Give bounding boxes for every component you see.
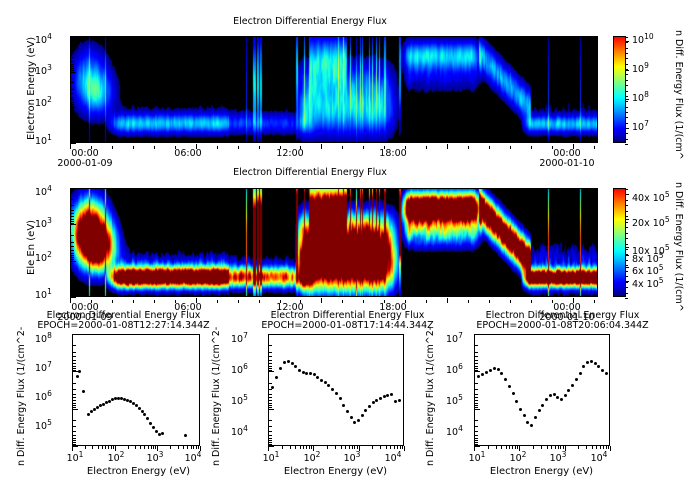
data-point — [383, 395, 386, 398]
spectrum-0-xtick-1: 102 — [101, 450, 131, 464]
spectrum-2-ytick-0: 107 — [446, 331, 463, 345]
data-point — [353, 421, 356, 424]
data-point — [560, 398, 563, 401]
data-point — [146, 417, 149, 420]
data-point — [545, 398, 548, 401]
data-point — [575, 378, 578, 381]
data-point — [386, 394, 389, 397]
data-point — [493, 367, 496, 370]
data-point — [283, 361, 286, 364]
spectrum-1-ylabel: n Diff. Energy Flux (1/(cm^2- — [211, 327, 222, 466]
spectrum-0-ytick-3: 105 — [35, 418, 52, 432]
data-point — [161, 432, 164, 435]
data-point — [497, 368, 500, 371]
top-colorbar-label: n Diff. Energy Flux (1/(cm^ — [673, 30, 684, 160]
mid-panel-title: Electron Differential Energy Flux — [0, 167, 620, 178]
mid-ytick-4: 104 — [35, 184, 52, 198]
data-point — [87, 413, 90, 416]
data-point — [368, 405, 371, 408]
mid-ytick-1: 101 — [35, 287, 52, 301]
spectrum-0-ytick-0: 108 — [35, 331, 52, 345]
top-spectrogram[interactable] — [70, 36, 598, 143]
data-point — [582, 365, 585, 368]
spectrum-0-ytick-1: 107 — [35, 360, 52, 374]
spectrum-2-xtick-2: 103 — [543, 450, 573, 464]
top-ytick-4: 104 — [35, 32, 52, 46]
data-point — [567, 389, 570, 392]
mid-ytick-2: 102 — [35, 250, 52, 264]
spectrogram-canvas — [71, 189, 597, 296]
data-point — [372, 401, 375, 404]
data-point — [279, 367, 282, 370]
data-point — [361, 414, 364, 417]
data-point — [375, 399, 378, 402]
data-point — [331, 388, 334, 391]
data-point — [327, 384, 330, 387]
spectrum-1-yticks — [268, 334, 276, 446]
data-point — [379, 397, 382, 400]
data-point — [523, 414, 526, 417]
data-point — [335, 392, 338, 395]
data-point — [390, 393, 393, 396]
mid-cbar-tick-0: 40x 105 — [632, 190, 670, 204]
spectrum-2-xtick-0: 101 — [462, 450, 492, 464]
data-point — [512, 392, 515, 395]
data-point — [519, 408, 522, 411]
spectrum-1-plot[interactable] — [268, 334, 404, 446]
data-point — [530, 424, 533, 427]
spectrum-2-ytick-2: 105 — [446, 393, 463, 407]
data-point — [287, 360, 290, 363]
spectrum-2-plot[interactable] — [474, 334, 610, 446]
spectrum-1-xtick-0: 101 — [256, 450, 286, 464]
spectrum-0-epoch: EPOCH=2000-01-08T12:27:14.344Z — [16, 320, 231, 331]
top-xtick-3: 18:00 — [363, 148, 423, 159]
data-point — [597, 365, 600, 368]
data-point — [553, 393, 556, 396]
data-point — [305, 372, 308, 375]
data-point — [485, 371, 488, 374]
data-point — [500, 372, 503, 375]
mid-spectrogram[interactable] — [70, 188, 598, 297]
data-point — [309, 372, 312, 375]
mid-yaxis-ticks — [70, 188, 78, 297]
top-yaxis-ticks — [70, 36, 78, 143]
spectrum-0-xlabel: Electron Energy (eV) — [66, 466, 211, 477]
data-point — [564, 394, 567, 397]
spectrum-0-xtick-2: 103 — [140, 450, 170, 464]
top-ytick-3: 103 — [35, 63, 52, 77]
data-point — [346, 410, 349, 413]
spectrum-1-ytick-1: 106 — [231, 362, 248, 376]
spectrum-0-ytick-2: 106 — [35, 389, 52, 403]
data-point — [515, 400, 518, 403]
data-point — [342, 404, 345, 407]
spectrum-0-plot[interactable] — [72, 334, 200, 446]
top-ytick-1: 101 — [35, 133, 52, 147]
data-point — [594, 362, 597, 365]
data-point — [508, 385, 511, 388]
data-point — [291, 362, 294, 365]
data-point — [320, 379, 323, 382]
top-cbar-tick-1: 109 — [632, 61, 649, 75]
spectrum-0-ylabel: n Diff. Energy Flux (1/(cm^2- — [16, 327, 27, 466]
data-point — [82, 390, 85, 393]
spectrum-0-xtick-3: 104 — [178, 450, 208, 464]
top-cbar-tick-0: 1010 — [632, 32, 654, 46]
data-point — [541, 404, 544, 407]
spectrum-1-epoch: EPOCH=2000-01-08T17:14:44.344Z — [240, 320, 455, 331]
data-point — [294, 365, 297, 368]
data-point — [504, 378, 507, 381]
data-point — [579, 372, 582, 375]
spectrum-1-xtick-2: 103 — [337, 450, 367, 464]
spectrum-2-xtick-1: 102 — [503, 450, 533, 464]
data-point — [364, 409, 367, 412]
data-point — [184, 434, 187, 437]
data-point — [526, 421, 529, 424]
data-point — [149, 422, 152, 425]
top-xaxis-ticks — [70, 143, 598, 149]
data-point — [152, 426, 155, 429]
data-point — [313, 373, 316, 376]
data-point — [489, 369, 492, 372]
data-point — [549, 394, 552, 397]
spectrum-1-xtick-1: 102 — [297, 450, 327, 464]
spectrum-1-xtick-3: 104 — [378, 450, 408, 464]
data-point — [357, 419, 360, 422]
spectrum-2-epoch: EPOCH=2000-01-08T20:06:04.344Z — [455, 320, 670, 331]
data-point — [298, 369, 301, 372]
data-point — [394, 400, 397, 403]
spectrum-2-xlabel: Electron Energy (eV) — [469, 466, 614, 477]
spectrum-2-ytick-1: 106 — [446, 362, 463, 376]
top-panel-ylabel: Electron Energy (eV) — [26, 37, 37, 140]
data-point — [138, 407, 141, 410]
spectrum-1-ytick-0: 107 — [231, 331, 248, 345]
spectrogram-canvas — [71, 37, 597, 142]
spectrum-1-ytick-2: 105 — [231, 393, 248, 407]
mid-colorbar[interactable] — [613, 188, 626, 297]
mid-cbar-tick-5: 4x 105 — [632, 276, 664, 290]
mid-ytick-3: 103 — [35, 216, 52, 230]
data-point — [324, 381, 327, 384]
spectrum-2-ytick-3: 104 — [446, 424, 463, 438]
data-point — [302, 371, 305, 374]
top-xtick-1: 06:00 — [158, 148, 218, 159]
spectrum-0-xtick-0: 101 — [60, 450, 90, 464]
data-point — [316, 376, 319, 379]
top-panel-title: Electron Differential Energy Flux — [0, 16, 620, 27]
data-point — [556, 396, 559, 399]
mid-xaxis-ticks — [70, 297, 598, 303]
spectrum-1-xlabel: Electron Energy (eV) — [263, 466, 408, 477]
top-cbar-tick-2: 108 — [632, 90, 649, 104]
data-point — [605, 372, 608, 375]
spectrum-2-ylabel: n Diff. Energy Flux (1/(cm^2- — [425, 327, 436, 466]
data-point — [571, 384, 574, 387]
data-point — [339, 397, 342, 400]
top-ytick-2: 102 — [35, 95, 52, 109]
data-point — [143, 413, 146, 416]
data-point — [398, 399, 401, 402]
spectrum-2-xtick-3: 104 — [584, 450, 614, 464]
spectrum-1-ytick-3: 104 — [231, 424, 248, 438]
top-cbar-tick-3: 107 — [632, 119, 649, 133]
top-xtick-2: 12:00 — [260, 148, 320, 159]
mid-cbar-tick-1: 20x 105 — [632, 215, 670, 229]
data-point — [601, 369, 604, 372]
spectrum-0-yticks — [72, 334, 80, 446]
data-point — [350, 416, 353, 419]
data-point — [590, 360, 593, 363]
mid-colorbar-label: n Diff. Energy Flux (1/(cm^ — [673, 182, 684, 312]
spectrum-2-yticks — [474, 334, 482, 446]
data-point — [534, 416, 537, 419]
data-point — [538, 409, 541, 412]
top-colorbar[interactable] — [613, 36, 626, 143]
data-point — [586, 361, 589, 364]
